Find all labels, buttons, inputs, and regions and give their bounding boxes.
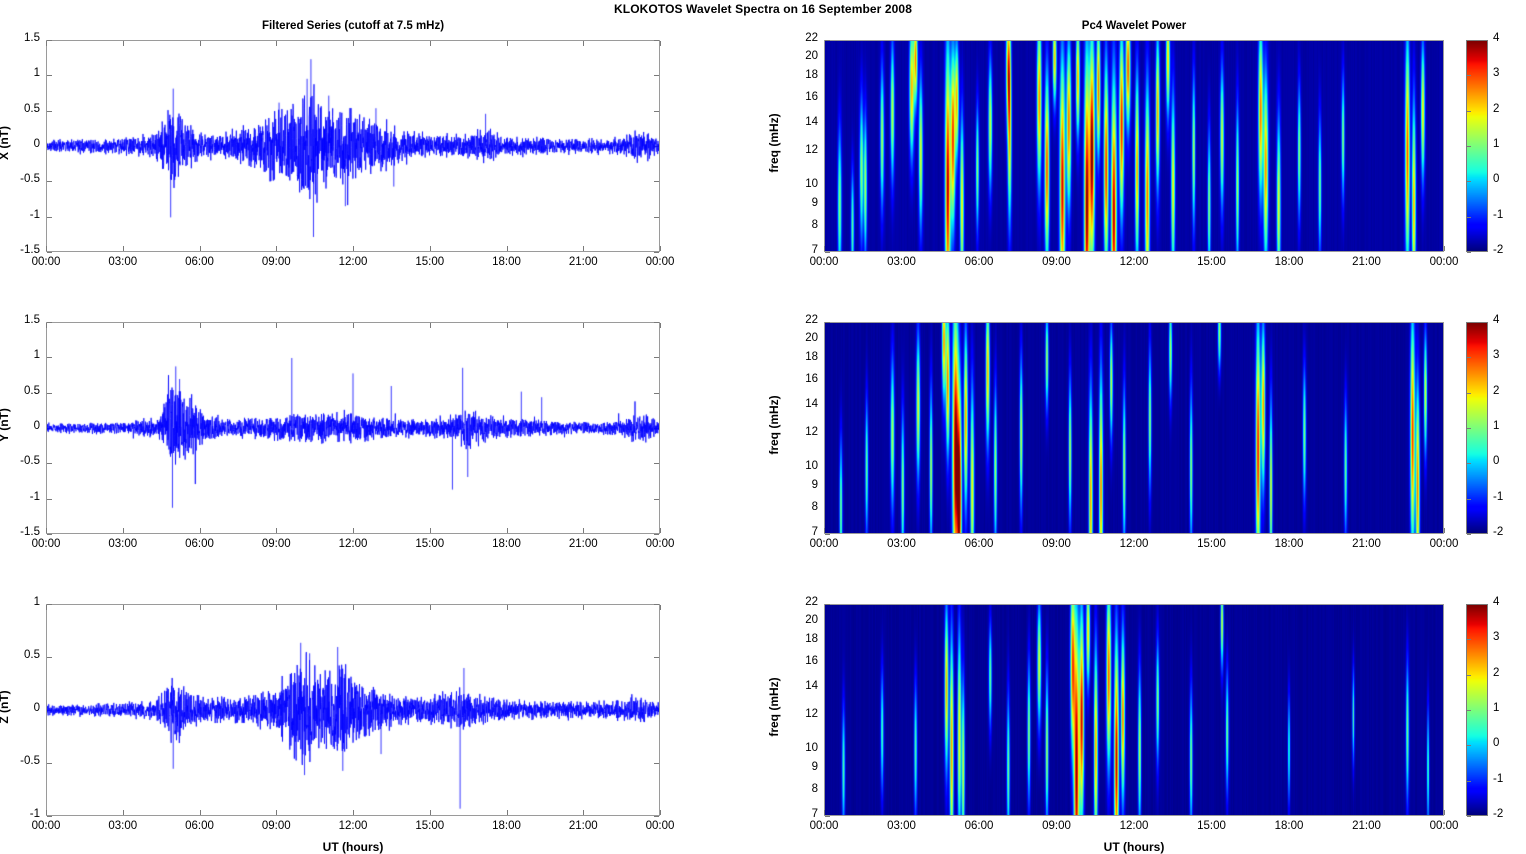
xtick-left-x-5: 15:00 [400, 256, 460, 268]
freqtick-z-8: 8 [784, 783, 818, 795]
xtick-left-x-4: 12:00 [323, 256, 383, 268]
colorbar-tick-x-1: 3 [1493, 67, 1519, 79]
colorbar-tick-x-5: -1 [1493, 209, 1519, 221]
xtick-right-z-7: 21:00 [1337, 820, 1397, 832]
xtick-right-y-7: 21:00 [1337, 538, 1397, 550]
xtick-left-y-6: 18:00 [477, 538, 537, 550]
xtick-left-z-1: 03:00 [93, 820, 153, 832]
colorbar-tickmark [1467, 675, 1471, 676]
xtick-right-y-4: 12:00 [1104, 538, 1164, 550]
freqtick-z-6: 10 [784, 742, 818, 754]
colorbar-tickmark [1467, 499, 1471, 500]
xtick-right-z-2: 06:00 [949, 820, 1009, 832]
xtick-right-z-6: 18:00 [1259, 820, 1319, 832]
timeseries-ylabel-x: X (nT) [0, 93, 11, 193]
colorbar-tick-y-3: 1 [1493, 420, 1519, 432]
colorbar-tick-y-4: 0 [1493, 455, 1519, 467]
freq-tickmark [825, 816, 830, 817]
xtick-left-y-0: 00:00 [16, 538, 76, 550]
colorbar-tick-z-5: -1 [1493, 773, 1519, 785]
ytick-x-6: -1.5 [2, 244, 40, 256]
ytick-x-1: 1 [2, 67, 40, 79]
freqtick-y-0: 22 [784, 314, 818, 326]
xtick-left-y-8: 00:00 [630, 538, 690, 550]
colorbar-tick-z-1: 3 [1493, 631, 1519, 643]
colorbar-tickmark [1467, 111, 1471, 112]
xtick-left-x-1: 03:00 [93, 256, 153, 268]
xtick-right-z-4: 12:00 [1104, 820, 1164, 832]
xtick-right-x-3: 09:00 [1027, 256, 1087, 268]
xtick-right-x-8: 00:00 [1414, 256, 1474, 268]
freqtick-y-8: 8 [784, 501, 818, 513]
xtick-left-z-2: 06:00 [170, 820, 230, 832]
spectrogram-xlabel: UT (hours) [824, 840, 1444, 854]
colorbar-tickmark [1467, 217, 1471, 218]
spectrogram-ylabel-y: freq (mHz) [767, 370, 781, 480]
xtick-right-z-1: 03:00 [872, 820, 932, 832]
colorbar-tickmark [1467, 639, 1471, 640]
freqtick-z-7: 9 [784, 761, 818, 773]
ytickmark [654, 534, 659, 535]
colorbar-tick-y-6: -2 [1493, 526, 1519, 538]
freq-tickmark [825, 252, 830, 253]
freqtick-x-1: 20 [784, 50, 818, 62]
freqtick-y-4: 14 [784, 398, 818, 410]
right-column-title: Pc4 Wavelet Power [824, 20, 1444, 32]
colorbar-tick-y-0: 4 [1493, 314, 1519, 326]
freqtick-z-3: 16 [784, 655, 818, 667]
colorbar-tickmark [1467, 181, 1471, 182]
xtick-left-z-5: 15:00 [400, 820, 460, 832]
colorbar-tick-y-2: 2 [1493, 385, 1519, 397]
xtick-left-x-7: 21:00 [553, 256, 613, 268]
xtick-right-x-5: 15:00 [1182, 256, 1242, 268]
timeseries-trace-y [47, 323, 659, 533]
xtickmark [660, 810, 661, 815]
freqtick-z-0: 22 [784, 596, 818, 608]
colorbar-tick-x-3: 1 [1493, 138, 1519, 150]
spectrogram-image-z [825, 605, 1443, 815]
left-column-title: Filtered Series (cutoff at 7.5 mHz) [46, 20, 660, 32]
freqtick-x-8: 8 [784, 219, 818, 231]
xtick-left-z-3: 09:00 [246, 820, 306, 832]
ytickmark [47, 252, 52, 253]
xtick-right-y-1: 03:00 [872, 538, 932, 550]
freqtick-x-2: 18 [784, 69, 818, 81]
freqtick-z-2: 18 [784, 633, 818, 645]
colorbar-tick-x-6: -2 [1493, 244, 1519, 256]
xtick-right-y-6: 18:00 [1259, 538, 1319, 550]
xtick-left-y-5: 15:00 [400, 538, 460, 550]
colorbar-tickmark [1467, 604, 1471, 605]
colorbar-tickmark [1467, 781, 1471, 782]
ytick-z-0: 1 [2, 596, 40, 608]
spectrogram-image-y [825, 323, 1443, 533]
xtickmark [660, 246, 661, 251]
xtick-right-x-4: 12:00 [1104, 256, 1164, 268]
freqtick-x-7: 9 [784, 197, 818, 209]
freqtick-y-6: 10 [784, 460, 818, 472]
timeseries-trace-z [47, 605, 659, 815]
colorbar-tickmark [1467, 745, 1471, 746]
freqtick-x-0: 22 [784, 32, 818, 44]
freqtick-x-6: 10 [784, 178, 818, 190]
xtick-right-x-2: 06:00 [949, 256, 1009, 268]
colorbar-tick-z-6: -2 [1493, 808, 1519, 820]
colorbar-tickmark [1467, 252, 1471, 253]
xtick-right-x-1: 03:00 [872, 256, 932, 268]
ytickmark [654, 816, 659, 817]
spectrogram-image-x [825, 41, 1443, 251]
colorbar-tick-y-1: 3 [1493, 349, 1519, 361]
xtickmark [660, 605, 661, 610]
colorbar-tick-z-0: 4 [1493, 596, 1519, 608]
freqtick-y-3: 16 [784, 373, 818, 385]
xtickmark [660, 528, 661, 533]
xtick-left-x-2: 06:00 [170, 256, 230, 268]
ytick-y-5: -1 [2, 491, 40, 503]
freqtick-y-9: 7 [784, 526, 818, 538]
colorbar-tickmark [1467, 357, 1471, 358]
xtick-left-y-1: 03:00 [93, 538, 153, 550]
ytick-x-5: -1 [2, 209, 40, 221]
colorbar-tickmark [1467, 816, 1471, 817]
timeseries-trace-x [47, 41, 659, 251]
xtick-left-x-8: 00:00 [630, 256, 690, 268]
ytickmark [47, 816, 52, 817]
colorbar-tickmark [1467, 322, 1471, 323]
xtick-left-z-7: 21:00 [553, 820, 613, 832]
freqtick-y-2: 18 [784, 351, 818, 363]
colorbar-tickmark [1467, 75, 1471, 76]
colorbar-tick-z-3: 1 [1493, 702, 1519, 714]
freqtick-y-1: 20 [784, 332, 818, 344]
colorbar-tickmark [1467, 393, 1471, 394]
xtickmark [1444, 246, 1445, 251]
colorbar-tick-z-4: 0 [1493, 737, 1519, 749]
colorbar-tickmark [1467, 463, 1471, 464]
spectrogram-ylabel-x: freq (mHz) [767, 88, 781, 198]
ytick-y-6: -1.5 [2, 526, 40, 538]
xtick-right-z-8: 00:00 [1414, 820, 1474, 832]
freq-tickmark [825, 534, 830, 535]
colorbar-tick-x-0: 4 [1493, 32, 1519, 44]
ytickmark [47, 534, 52, 535]
freqtick-x-9: 7 [784, 244, 818, 256]
xtick-right-x-6: 18:00 [1259, 256, 1319, 268]
freqtick-x-4: 14 [784, 116, 818, 128]
ytickmark [654, 252, 659, 253]
xtick-left-y-3: 09:00 [246, 538, 306, 550]
colorbar-tickmark [1467, 710, 1471, 711]
ytick-y-1: 1 [2, 349, 40, 361]
timeseries-ylabel-z: Z (nT) [0, 657, 11, 757]
freqtick-y-5: 12 [784, 426, 818, 438]
xtick-left-z-4: 12:00 [323, 820, 383, 832]
timeseries-ylabel-y: Y (nT) [0, 375, 11, 475]
xtick-right-x-7: 21:00 [1337, 256, 1397, 268]
xtick-left-y-2: 06:00 [170, 538, 230, 550]
colorbar-tickmark [1467, 534, 1471, 535]
ytick-x-0: 1.5 [2, 32, 40, 44]
freqtick-z-4: 14 [784, 680, 818, 692]
freqtick-y-7: 9 [784, 479, 818, 491]
colorbar-tickmark [1467, 146, 1471, 147]
xtick-right-y-0: 00:00 [794, 538, 854, 550]
xtickmark [660, 323, 661, 328]
xtick-right-z-0: 00:00 [794, 820, 854, 832]
timeseries-xlabel: UT (hours) [46, 840, 660, 854]
freqtick-x-5: 12 [784, 144, 818, 156]
xtick-right-z-5: 15:00 [1182, 820, 1242, 832]
xtick-left-x-6: 18:00 [477, 256, 537, 268]
freqtick-z-5: 12 [784, 708, 818, 720]
xtick-right-y-5: 15:00 [1182, 538, 1242, 550]
colorbar-tick-x-2: 2 [1493, 103, 1519, 115]
xtickmark [1444, 810, 1445, 815]
figure-title: KLOKOTOS Wavelet Spectra on 16 September… [0, 2, 1526, 16]
xtick-left-z-8: 00:00 [630, 820, 690, 832]
xtickmark [660, 41, 661, 46]
xtick-left-y-4: 12:00 [323, 538, 383, 550]
colorbar-tick-y-5: -1 [1493, 491, 1519, 503]
colorbar-tick-x-4: 0 [1493, 173, 1519, 185]
spectrogram-ylabel-z: freq (mHz) [767, 652, 781, 762]
xtick-left-x-0: 00:00 [16, 256, 76, 268]
xtick-right-x-0: 00:00 [794, 256, 854, 268]
xtick-right-y-8: 00:00 [1414, 538, 1474, 550]
freqtick-z-9: 7 [784, 808, 818, 820]
xtick-left-z-0: 00:00 [16, 820, 76, 832]
colorbar-tick-z-2: 2 [1493, 667, 1519, 679]
freqtick-x-3: 16 [784, 91, 818, 103]
xtick-right-y-3: 09:00 [1027, 538, 1087, 550]
xtick-right-z-3: 09:00 [1027, 820, 1087, 832]
colorbar-tickmark [1467, 40, 1471, 41]
xtick-right-y-2: 06:00 [949, 538, 1009, 550]
xtick-left-z-6: 18:00 [477, 820, 537, 832]
xtickmark [1444, 528, 1445, 533]
colorbar-tickmark [1467, 428, 1471, 429]
ytick-z-4: -1 [2, 808, 40, 820]
xtick-left-x-3: 09:00 [246, 256, 306, 268]
xtick-left-y-7: 21:00 [553, 538, 613, 550]
freqtick-z-1: 20 [784, 614, 818, 626]
ytick-y-0: 1.5 [2, 314, 40, 326]
